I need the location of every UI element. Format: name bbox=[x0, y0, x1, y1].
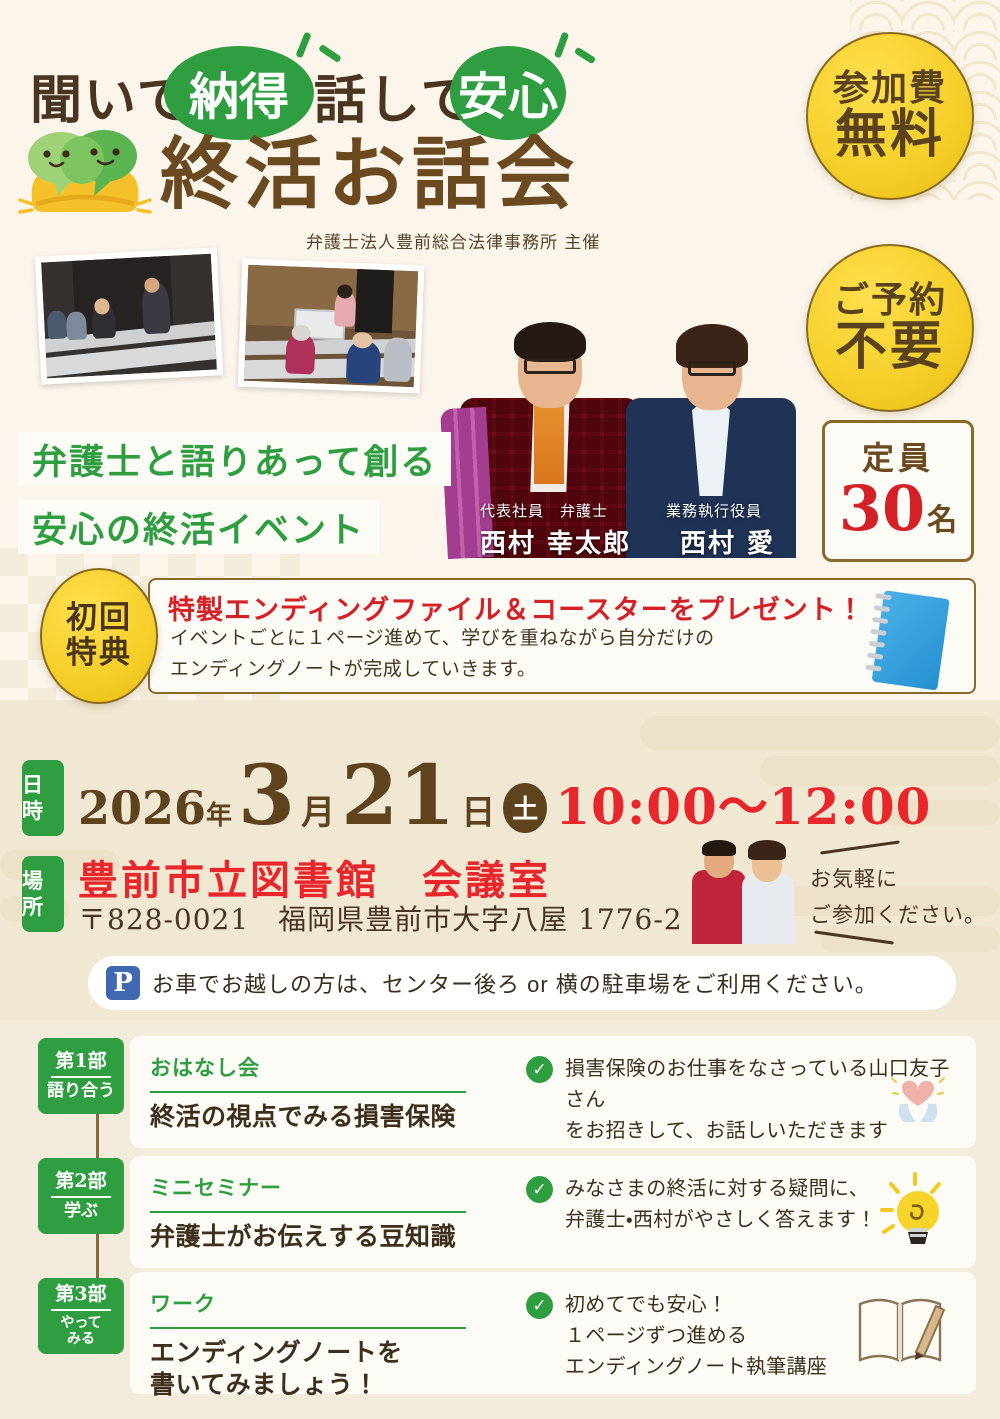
program-sign-3: 第3部 やって みる bbox=[38, 1278, 124, 1354]
staff-photo bbox=[690, 840, 798, 944]
invite-line2: ご参加ください。 bbox=[810, 898, 986, 934]
organizer-label: 弁護士法人豊前総合法律事務所 主催 bbox=[306, 228, 600, 253]
capacity-badge: 定員 30 名 bbox=[822, 420, 974, 562]
heart-in-hands-icon bbox=[888, 1064, 948, 1126]
poster-root: 聞いて 納得 話して 安心 終活お話会 弁護士法人豊前総合法律事務所 主催 bbox=[0, 0, 1000, 1419]
event-year-unit: 年 bbox=[206, 795, 232, 832]
date-tag-char1: 日時 bbox=[22, 772, 64, 825]
bonus-heading: 特製エンディングファイル＆コースターをプレゼント！ bbox=[168, 588, 865, 627]
invite-line1: お気軽に bbox=[810, 862, 986, 898]
event-month-unit: 月 bbox=[301, 785, 335, 834]
fee-badge: 参加費 無料 bbox=[806, 32, 974, 200]
check-icon-3: ✓ bbox=[526, 1292, 553, 1319]
open-book-pencil-icon bbox=[854, 1290, 950, 1370]
speaker-2-name: 西村 愛 bbox=[666, 523, 820, 560]
program-sign-3-bottom: やって みる bbox=[60, 1315, 101, 1347]
bonus-body-line2: エンディングノートが完成していきます。 bbox=[170, 655, 715, 686]
page-title: 終活お話会 bbox=[160, 112, 580, 224]
program-desc-3-line2: １ページずつ進める bbox=[565, 1321, 827, 1352]
speaker-2-role: 業務執行役員 bbox=[666, 500, 820, 521]
program-sign-1-bottom: 語り合う bbox=[47, 1082, 115, 1101]
reservation-badge: ご予約 不要 bbox=[806, 244, 974, 412]
program-sign-3-top: 第3部 bbox=[55, 1284, 106, 1305]
program-title-2: 弁護士がお伝えする豆知識 bbox=[150, 1221, 480, 1253]
program-kind-2: ミニセミナー bbox=[150, 1172, 480, 1202]
reservation-badge-value: 不要 bbox=[835, 320, 945, 375]
event-day-unit: 日 bbox=[461, 785, 495, 834]
bonus-badge: 初回 特典 bbox=[40, 568, 158, 704]
program-kind-1: おはなし会 bbox=[150, 1052, 480, 1082]
speaker-names: 代表社員 弁護士 西村 幸太郎 業務執行役員 西村 愛 bbox=[480, 500, 820, 560]
program-desc-3-line3: エンディングノート執筆講座 bbox=[565, 1352, 827, 1383]
program-card-3: ワーク エンディングノートを 書いてみましょう！ ✓ 初めてでも安心！ １ページ… bbox=[130, 1272, 976, 1394]
mascot-icon bbox=[14, 118, 154, 218]
capacity-number: 30 bbox=[839, 478, 925, 540]
reservation-badge-label: ご予約 bbox=[833, 282, 947, 320]
program-sign-1-top: 第1部 bbox=[55, 1051, 106, 1072]
bonus-body: イベントごとに１ページ進めて、学びを重ねながら自分だけの エンディングノートが完… bbox=[170, 624, 715, 686]
event-dayofweek: 土 bbox=[503, 783, 547, 833]
venue-address: 〒828-0021 福岡県豊前市大字八屋 1776-2 bbox=[78, 898, 683, 938]
event-month: 3 bbox=[238, 748, 295, 844]
capacity-label: 定員 bbox=[862, 442, 934, 474]
event-time: 10:00〜12:00 bbox=[555, 767, 931, 839]
green-banner-line1: 弁護士と語りあって創る bbox=[18, 432, 451, 486]
fee-badge-value: 無料 bbox=[835, 108, 945, 163]
program-sign-2-top: 第2部 bbox=[55, 1171, 106, 1192]
event-photo-1 bbox=[35, 247, 223, 384]
capacity-unit: 名 bbox=[927, 506, 957, 536]
program-card-1: おはなし会 終活の視点でみる損害保険 ✓ 損害保険のお仕事をなさっている山口友子… bbox=[130, 1036, 976, 1148]
event-datetime: 2026 年 3 月 21 日 土 10:00〜12:00 bbox=[78, 748, 931, 834]
date-tag: 日時 bbox=[22, 760, 64, 836]
check-icon-2: ✓ bbox=[526, 1176, 553, 1203]
check-icon-1: ✓ bbox=[526, 1056, 553, 1083]
program-desc-3-line1: 初めてでも安心！ bbox=[565, 1290, 827, 1321]
bonus-badge-line2: 特典 bbox=[66, 636, 132, 671]
green-banner-line2: 安心の終活イベント bbox=[18, 500, 379, 554]
notebook-icon bbox=[855, 580, 961, 696]
speaker-1-name: 西村 幸太郎 bbox=[480, 523, 660, 560]
place-tag: 場所 bbox=[22, 856, 64, 932]
event-day: 21 bbox=[341, 748, 455, 844]
speaker-1-role: 代表社員 弁護士 bbox=[480, 500, 660, 521]
program-sign-2: 第2部 学ぶ bbox=[38, 1158, 124, 1234]
bonus-body-line1: イベントごとに１ページ進めて、学びを重ねながら自分だけの bbox=[170, 624, 715, 655]
program-title-3: エンディングノートを 書いてみましょう！ bbox=[150, 1337, 480, 1401]
fee-badge-label: 参加費 bbox=[833, 70, 947, 108]
parking-text: お車でお越しの方は、センター後ろ or 横の駐車場をご利用ください。 bbox=[152, 967, 878, 999]
program-desc-2-line1: みなさまの終活に対する疑問に、 bbox=[565, 1174, 877, 1205]
parking-icon: P bbox=[106, 966, 140, 1000]
bonus-badge-line1: 初回 bbox=[66, 601, 132, 636]
event-photo-2 bbox=[238, 259, 425, 394]
program-sign-1: 第1部 語り合う bbox=[38, 1038, 124, 1114]
lightbulb-icon bbox=[878, 1168, 952, 1256]
event-year: 2026 bbox=[78, 781, 206, 835]
program-title-1: 終活の視点でみる損害保険 bbox=[150, 1101, 480, 1133]
invite-text: お気軽に ご参加ください。 bbox=[810, 862, 986, 933]
parking-notice: P お車でお越しの方は、センター後ろ or 横の駐車場をご利用ください。 bbox=[88, 956, 956, 1010]
program-card-2: ミニセミナー 弁護士がお伝えする豆知識 ✓ みなさまの終活に対する疑問に、 弁護… bbox=[130, 1156, 976, 1268]
program-sign-2-bottom: 学ぶ bbox=[64, 1202, 98, 1221]
program-desc-2-line2: 弁護士・西村がやさしく答えます！ bbox=[565, 1205, 877, 1236]
program-kind-3: ワーク bbox=[150, 1288, 480, 1318]
place-tag-char1: 場所 bbox=[22, 868, 64, 921]
